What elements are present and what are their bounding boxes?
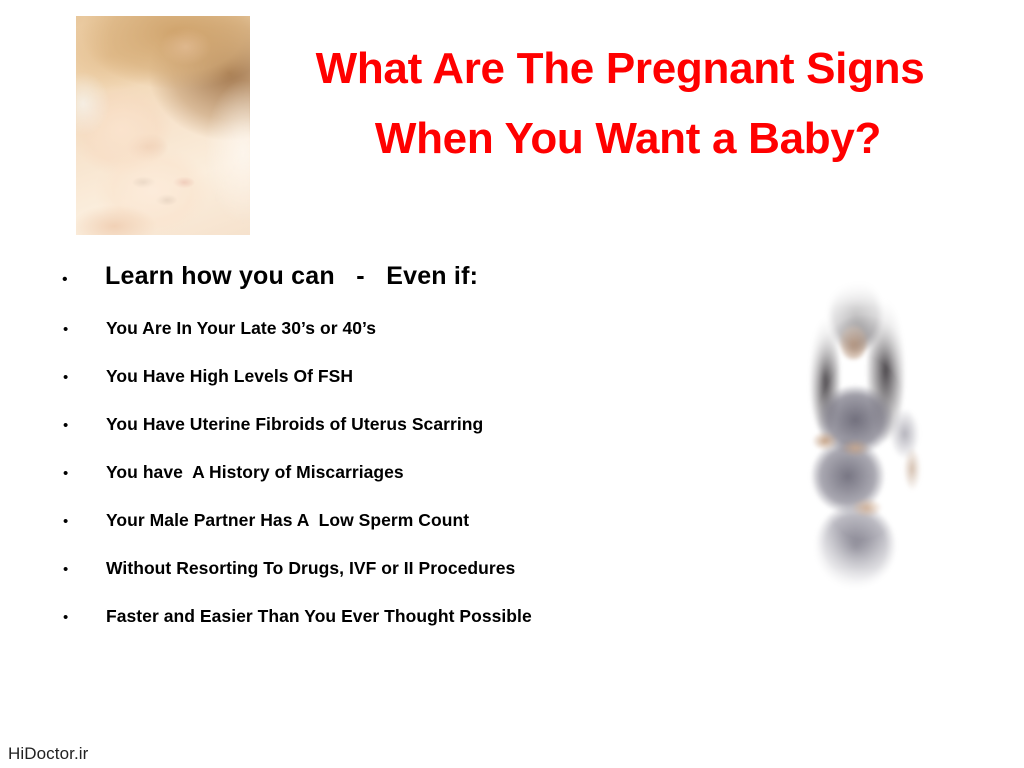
- list-item-label: Your Male Partner Has A Low Sperm Count: [105, 510, 469, 530]
- list-item: • Faster and Easier Than You Ever Though…: [56, 606, 756, 654]
- title-line-2: When You Want a Baby?: [270, 104, 970, 174]
- photo-bedding-layer: [76, 16, 250, 235]
- bullet-glyph-icon: •: [56, 562, 105, 577]
- slide-canvas: What Are The Pregnant Signs When You Wan…: [0, 0, 1024, 768]
- list-item-label: Learn how you can - Even if:: [105, 262, 478, 290]
- list-item: • You Have Uterine Fibroids of Uterus Sc…: [56, 414, 756, 462]
- bullet-glyph-icon: •: [56, 322, 105, 337]
- photo-edge-feather: [768, 272, 958, 624]
- list-item-label: You Are In Your Late 30’s or 40’s: [105, 318, 376, 338]
- bullet-glyph-icon: •: [56, 272, 105, 288]
- title-line-1: What Are The Pregnant Signs: [270, 34, 970, 104]
- bullet-glyph-icon: •: [56, 370, 105, 385]
- list-item-label: Faster and Easier Than You Ever Thought …: [105, 606, 532, 626]
- list-item: • You have A History of Miscarriages: [56, 462, 756, 510]
- pregnant-woman-photo: [768, 272, 958, 624]
- list-item-label: Without Resorting To Drugs, IVF or II Pr…: [105, 558, 515, 578]
- list-item: • Without Resorting To Drugs, IVF or II …: [56, 558, 756, 606]
- bullet-glyph-icon: •: [56, 466, 105, 481]
- list-item-label: You have A History of Miscarriages: [105, 462, 404, 482]
- list-item: • Your Male Partner Has A Low Sperm Coun…: [56, 510, 756, 558]
- watermark-label: HiDoctor.ir: [8, 744, 88, 764]
- bullet-glyph-icon: •: [56, 418, 105, 433]
- bullet-glyph-icon: •: [56, 514, 105, 529]
- list-item: • You Are In Your Late 30’s or 40’s: [56, 318, 756, 366]
- list-item: • You Have High Levels Of FSH: [56, 366, 756, 414]
- mother-baby-photo: [76, 16, 250, 235]
- bullet-glyph-icon: •: [56, 610, 105, 625]
- list-item-label: You Have Uterine Fibroids of Uterus Scar…: [105, 414, 483, 434]
- bullet-list: • Learn how you can - Even if: • You Are…: [56, 262, 756, 654]
- list-item-heading: • Learn how you can - Even if:: [56, 262, 756, 318]
- slide-title: What Are The Pregnant Signs When You Wan…: [270, 34, 970, 174]
- list-item-label: You Have High Levels Of FSH: [105, 366, 353, 386]
